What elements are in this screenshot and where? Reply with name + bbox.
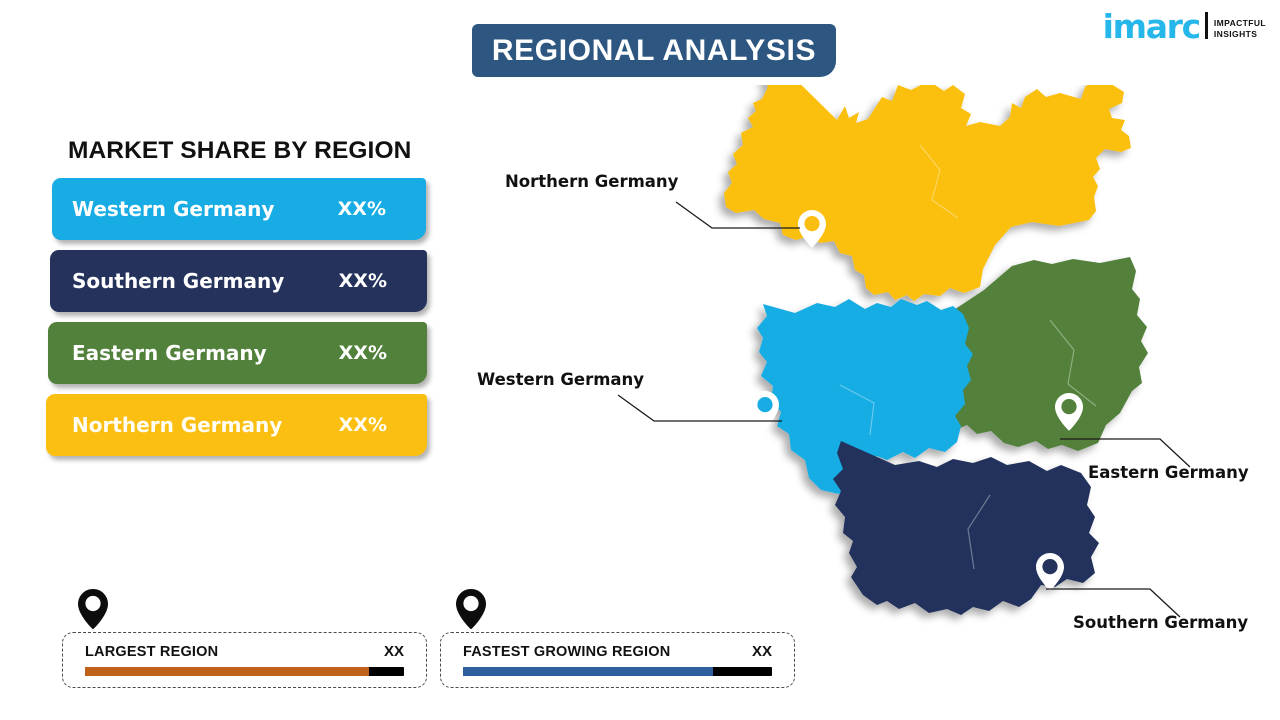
map-label-northern-germany: Northern Germany [505, 172, 678, 191]
region-label: Eastern Germany [72, 341, 267, 365]
stat-box: LARGEST REGION XX [62, 632, 427, 688]
market-share-row-northern-germany[interactable]: Northern Germany XX% [46, 394, 427, 456]
map-region-southern-germany[interactable] [833, 441, 1099, 615]
page-title: REGIONAL ANALYSIS [492, 34, 816, 68]
map-label-southern-germany: Southern Germany [1073, 613, 1248, 632]
region-share-value: XX% [338, 198, 386, 220]
logo-tagline: IMPACTFUL INSIGHTS [1214, 18, 1266, 42]
stat-progress-track [463, 667, 772, 676]
region-label: Northern Germany [72, 413, 282, 437]
market-share-row-southern-germany[interactable]: Southern Germany XX% [50, 250, 427, 312]
logo-wordmark: imarc [1103, 12, 1200, 42]
logo-tagline-line1: IMPACTFUL [1214, 18, 1266, 28]
logo-divider [1205, 12, 1208, 39]
map-pin-icon [454, 588, 488, 635]
stat-value: XX [384, 643, 404, 660]
stat-row: LARGEST REGION XX [85, 643, 404, 660]
market-share-list: Western Germany XX% Southern Germany XX%… [0, 178, 460, 466]
stat-progress-fill [463, 667, 713, 676]
stat-progress-track [85, 667, 404, 676]
logo-tagline-line2: INSIGHTS [1214, 29, 1257, 39]
stat-label: LARGEST REGION [85, 644, 218, 660]
map-pin-icon-western [751, 391, 779, 428]
region-share-value: XX% [339, 342, 387, 364]
stat-progress-fill [85, 667, 369, 676]
region-label: Southern Germany [72, 269, 284, 293]
region-share-value: XX% [339, 414, 387, 436]
page-title-banner: REGIONAL ANALYSIS [472, 24, 836, 77]
imarc-logo: imarc IMPACTFUL INSIGHTS [1103, 12, 1266, 42]
region-share-value: XX% [339, 270, 387, 292]
map-pin-icon [76, 588, 110, 635]
map-label-western-germany: Western Germany [477, 370, 644, 389]
slide-canvas: REGIONAL ANALYSIS imarc IMPACTFUL INSIGH… [0, 0, 1280, 720]
market-share-row-eastern-germany[interactable]: Eastern Germany XX% [48, 322, 427, 384]
germany-region-map [690, 85, 1280, 665]
market-share-row-western-germany[interactable]: Western Germany XX% [52, 178, 426, 240]
market-share-heading: MARKET SHARE BY REGION [68, 137, 411, 165]
map-label-eastern-germany: Eastern Germany [1088, 463, 1249, 482]
region-label: Western Germany [72, 197, 274, 221]
stat-label: FASTEST GROWING REGION [463, 644, 670, 660]
